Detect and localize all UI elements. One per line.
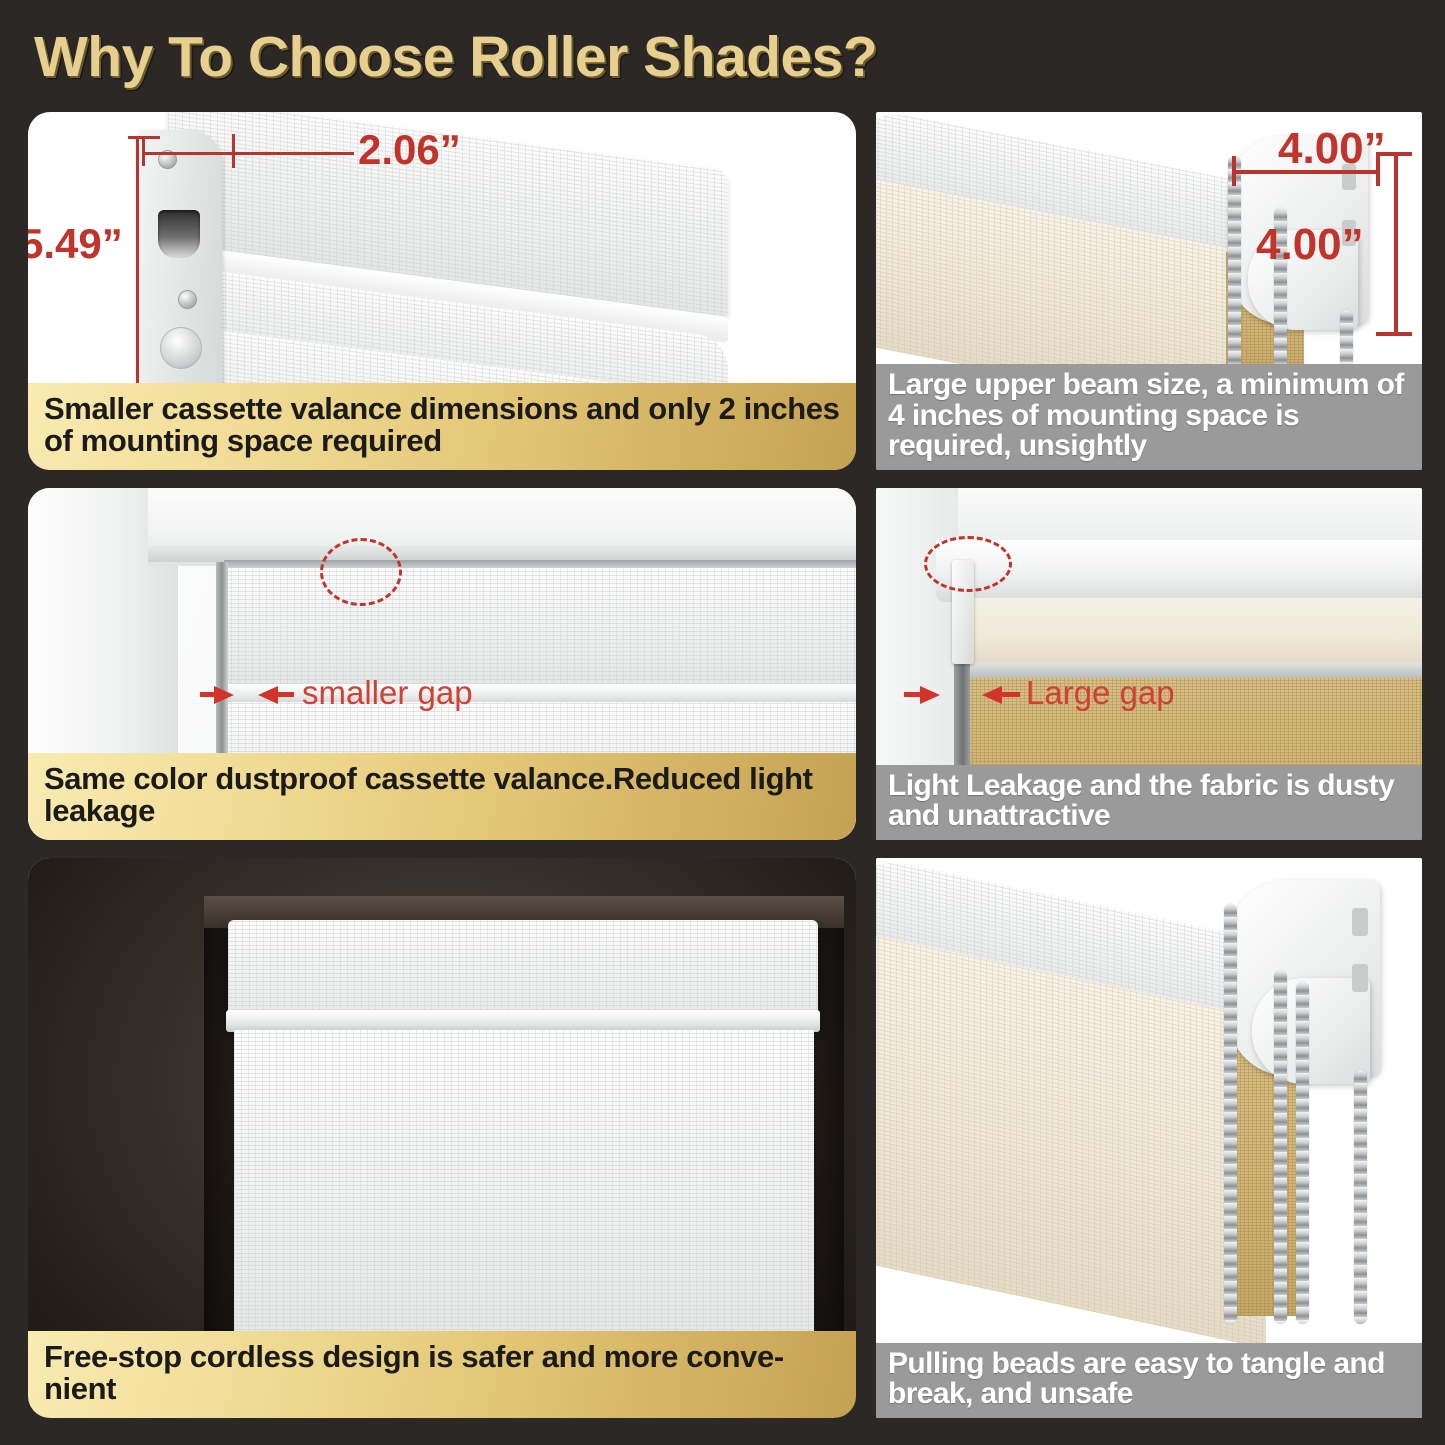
gap-arrow-right — [258, 686, 278, 704]
beam-height-tick-bottom — [1376, 332, 1412, 336]
gap-arrow-right-stem — [1002, 692, 1020, 697]
bead-chain — [1354, 1070, 1367, 1324]
end-cap-slot — [158, 210, 200, 258]
beam-middle — [964, 598, 1422, 666]
panel-1-caption: Smaller cassette valance dimensions and … — [28, 383, 856, 470]
width-dim-tick-left — [142, 138, 145, 166]
bead-chain — [1296, 982, 1309, 1324]
beam-width-tick-left — [1232, 156, 1236, 186]
gap-arrow-right-stem — [278, 692, 294, 697]
roller-bracket-lower — [1252, 978, 1370, 1084]
width-dim-tick-right — [232, 134, 235, 168]
panel-4-caption: Light Leakage and the fabric is dusty an… — [876, 765, 1422, 840]
panel-5-caption: Free-stop cordless design is safer and m… — [28, 1331, 856, 1418]
highlight-ellipse — [320, 538, 402, 606]
height-dim-tick-top — [128, 136, 160, 139]
width-dim-label: 2.06” — [358, 126, 461, 174]
page-title: Why To Choose Roller Shades? — [34, 22, 1034, 92]
beam-height-tick-top — [1376, 152, 1412, 156]
highlight-ellipse — [924, 536, 1012, 592]
panel-6-caption: Pulling beads are easy to tangle and bre… — [876, 1343, 1422, 1418]
beam-height-dim-line — [1394, 152, 1398, 336]
height-dim-line — [136, 136, 139, 396]
roller-shade-fabric — [234, 1030, 814, 1350]
valance-body — [224, 568, 856, 688]
bracket-mount-slot — [1352, 908, 1368, 936]
gap-label: smaller gap — [302, 674, 473, 712]
bead-chain — [1224, 904, 1237, 1324]
bead-chain — [1274, 970, 1287, 1324]
end-cap-knob — [160, 327, 202, 369]
gap-arrow-left — [214, 686, 234, 704]
panel-cordless-design: Free-stop cordless design is safer and m… — [28, 858, 856, 1418]
width-dim-line — [142, 152, 354, 155]
gap-arrow-right — [982, 686, 1002, 704]
panel-light-leakage: Large gap Light Leakage and the fabric i… — [876, 488, 1422, 840]
gap-arrow-left-stem — [200, 692, 216, 697]
infographic-root: Why To Choose Roller Shades? 2.06” 5.49”… — [0, 0, 1445, 1445]
beam-width-label: 4.00” — [1278, 124, 1386, 174]
panel-6-photo — [876, 858, 1422, 1418]
screw-icon — [178, 290, 197, 309]
beam-height-label: 4.00” — [1256, 220, 1364, 270]
bracket-mount-slot — [1352, 964, 1368, 992]
gap-arrow-left-stem — [904, 692, 922, 697]
gap-label: Large gap — [1026, 674, 1175, 712]
panel-pulling-beads: Pulling beads are easy to tangle and bre… — [876, 858, 1422, 1418]
valance-lip — [226, 1010, 820, 1032]
panel-2-caption: Large upper beam size, a minimum of 4 in… — [876, 364, 1422, 470]
gap-arrow-left — [920, 686, 940, 704]
bead-chain — [1228, 156, 1241, 386]
panel-large-upper-beam: 4.00” 4.00” Large upper beam size, a min… — [876, 112, 1422, 470]
panel-dustproof-valance: smaller gap Same color dustproof cassett… — [28, 488, 856, 840]
panel-smaller-cassette: 2.06” 5.49” Smaller cassette valance dim… — [28, 112, 856, 470]
height-dim-label: 5.49” — [28, 220, 123, 268]
panel-3-caption: Same color dustproof cassette valance.Re… — [28, 753, 856, 840]
